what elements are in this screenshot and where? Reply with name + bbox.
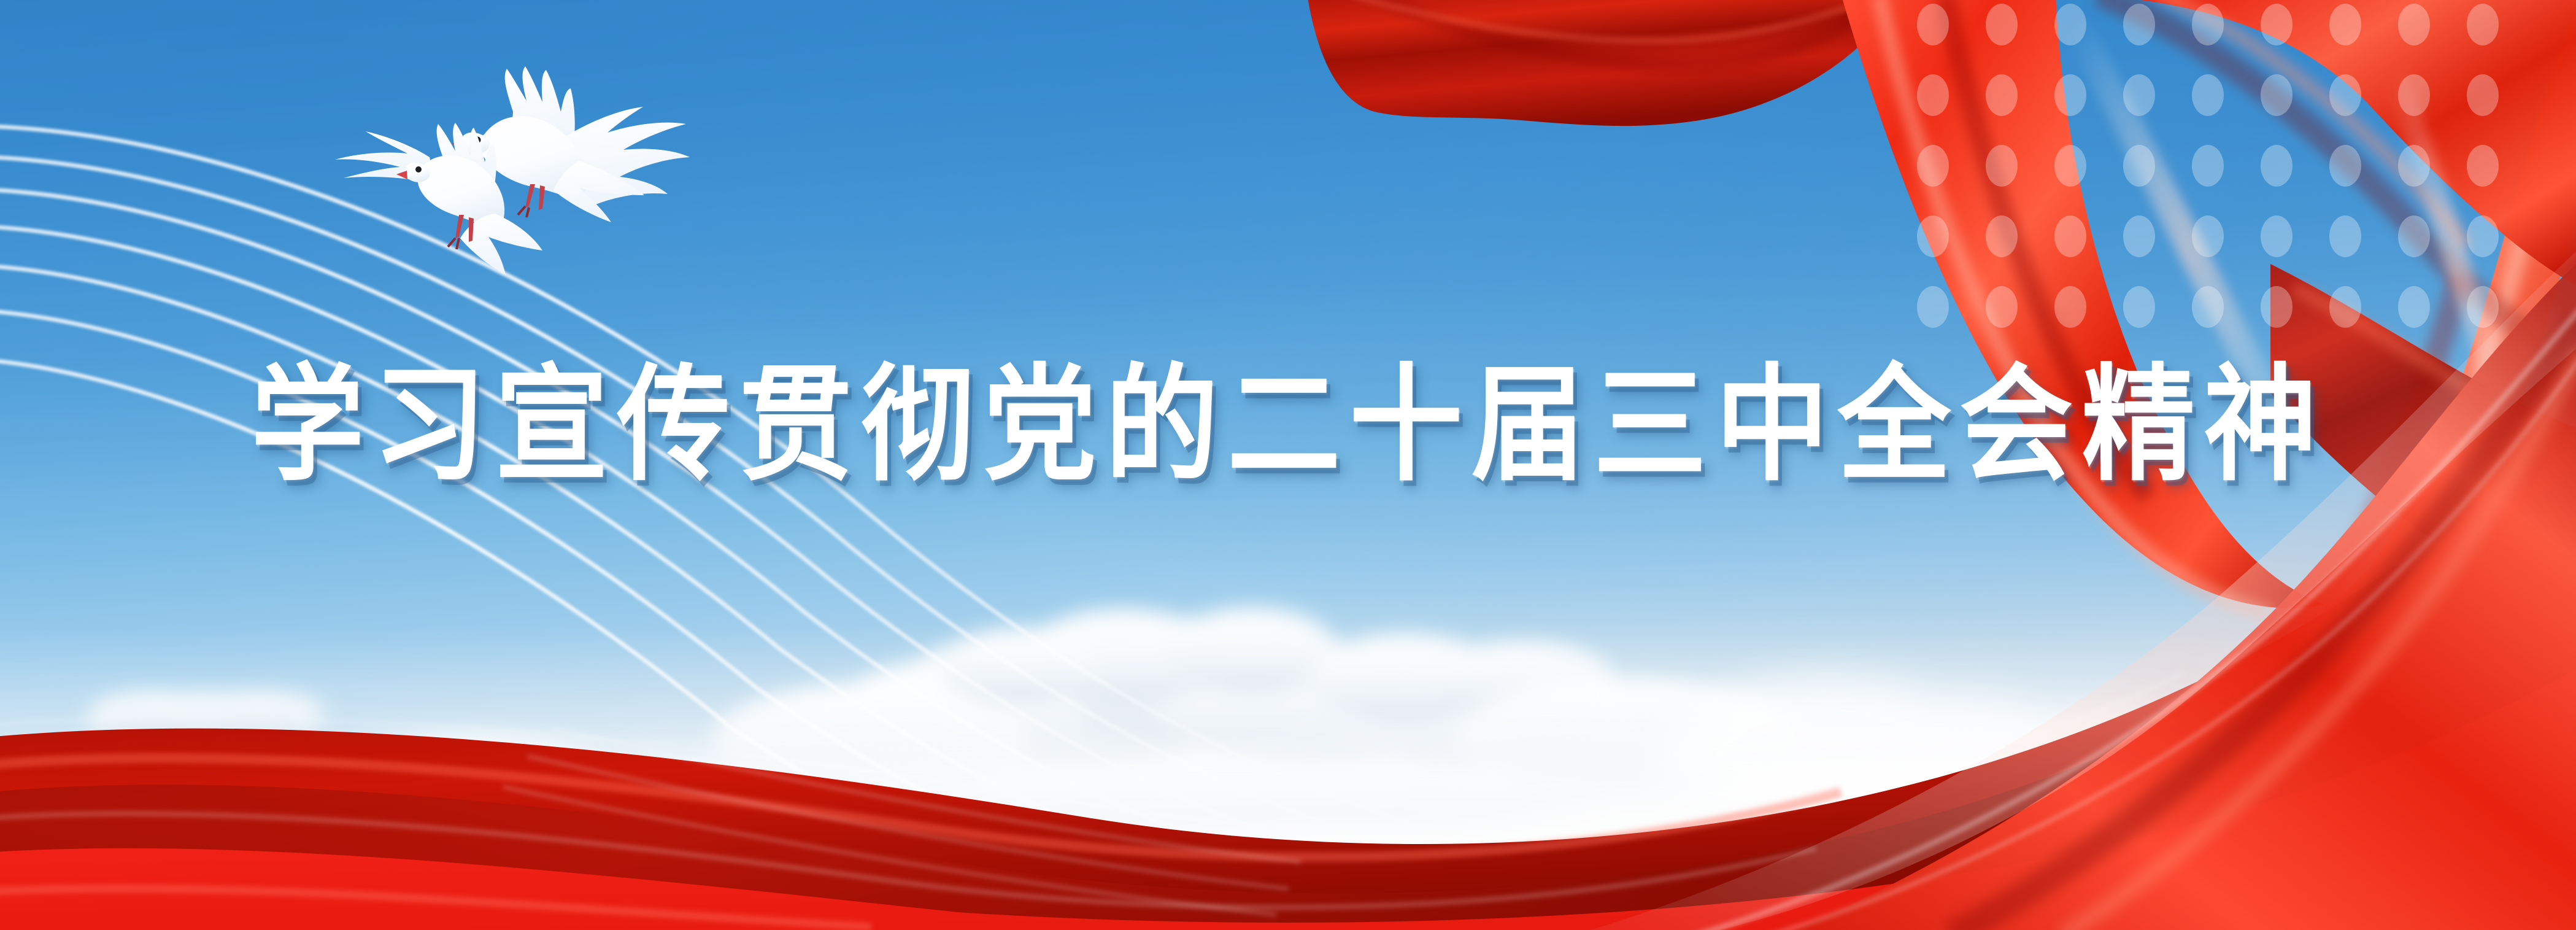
doves-layer — [0, 0, 2576, 930]
banner-root: 学习宣传贯彻党的二十届三中全会精神 — [0, 0, 2576, 930]
